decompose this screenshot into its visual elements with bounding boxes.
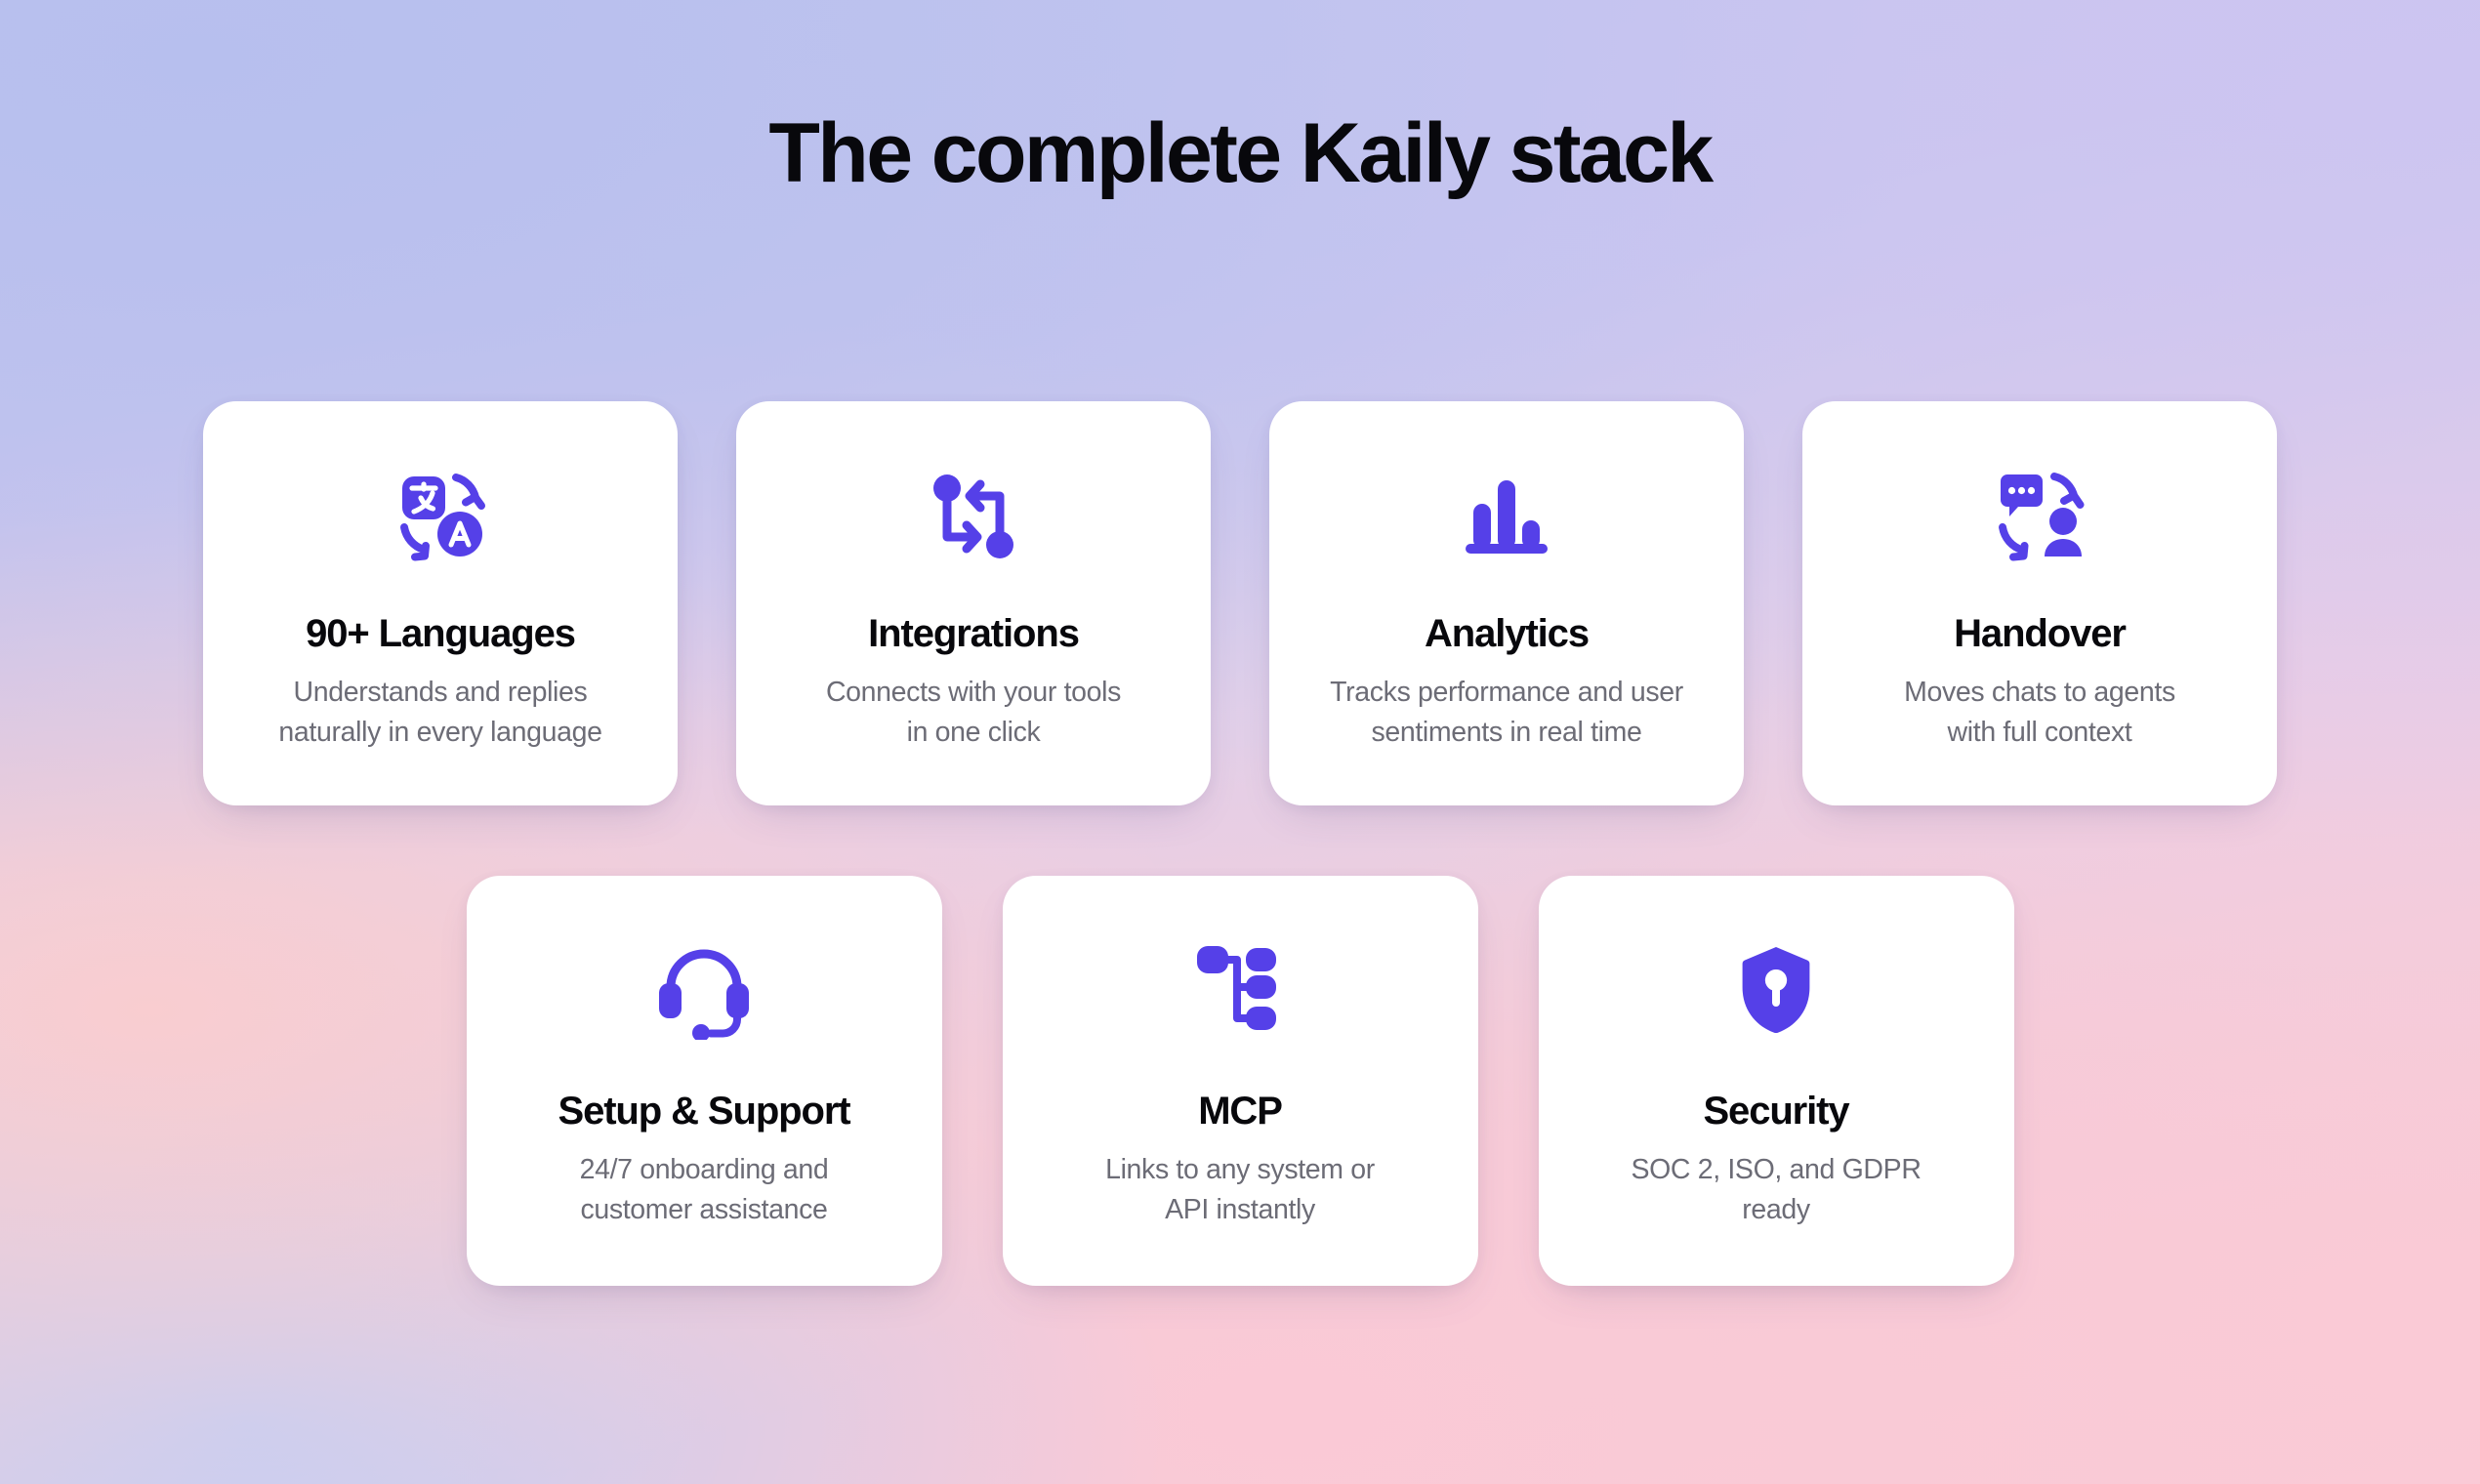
- card-description-line-1: 24/7 onboarding and: [580, 1154, 829, 1185]
- integrations-sync-arrows-icon: [921, 464, 1026, 569]
- feature-card-languages[interactable]: 90+ Languages Understands and replies na…: [203, 401, 678, 805]
- card-title: Integrations: [868, 612, 1079, 655]
- feature-card-integrations[interactable]: Integrations Connects with your tools in…: [736, 401, 1211, 805]
- card-description: Links to any system or API instantly: [1105, 1150, 1375, 1231]
- card-description-line-2: API instantly: [1165, 1194, 1315, 1225]
- feature-card-analytics[interactable]: Analytics Tracks performance and user se…: [1269, 401, 1744, 805]
- card-description-line-2: ready: [1742, 1194, 1810, 1225]
- feature-stack-page: The complete Kaily stack 90+ Languages U…: [0, 0, 2480, 1484]
- feature-card-row-1: 90+ Languages Understands and replies na…: [0, 401, 2480, 805]
- handover-chat-agent-icon: [1987, 464, 2092, 569]
- card-description-line-2: naturally in every language: [278, 717, 601, 748]
- feature-card-handover[interactable]: Handover Moves chats to agents with full…: [1802, 401, 2277, 805]
- card-description: Tracks performance and user sentiments i…: [1330, 673, 1683, 754]
- shield-keyhole-security-icon: [1723, 937, 1829, 1043]
- feature-card-security[interactable]: Security SOC 2, ISO, and GDPR ready: [1539, 876, 2014, 1286]
- card-description-line-1: Connects with your tools: [826, 677, 1121, 708]
- feature-card-row-2: Setup & Support 24/7 onboarding and cust…: [0, 876, 2480, 1286]
- card-description: SOC 2, ISO, and GDPR ready: [1631, 1150, 1921, 1231]
- mcp-node-tree-icon: [1187, 937, 1293, 1043]
- card-description: 24/7 onboarding and customer assistance: [580, 1150, 829, 1231]
- card-description: Connects with your tools in one click: [826, 673, 1121, 754]
- card-title: Setup & Support: [558, 1090, 849, 1133]
- card-title: MCP: [1198, 1090, 1282, 1133]
- card-description-line-2: customer assistance: [580, 1194, 827, 1225]
- card-description-line-1: Moves chats to agents: [1904, 677, 2175, 708]
- card-title: Handover: [1954, 612, 2126, 655]
- page-title: The complete Kaily stack: [0, 109, 2480, 197]
- card-description-line-1: Tracks performance and user: [1330, 677, 1683, 708]
- card-description-line-1: Understands and replies: [294, 677, 588, 708]
- card-description-line-2: sentiments in real time: [1371, 717, 1641, 748]
- card-description-line-2: with full context: [1948, 717, 2132, 748]
- feature-card-setup-support[interactable]: Setup & Support 24/7 onboarding and cust…: [467, 876, 942, 1286]
- card-description-line-1: Links to any system or: [1105, 1154, 1375, 1185]
- translate-languages-icon: [388, 464, 493, 569]
- feature-card-mcp[interactable]: MCP Links to any system or API instantly: [1003, 876, 1478, 1286]
- headset-support-icon: [651, 937, 757, 1043]
- card-title: Security: [1703, 1090, 1848, 1133]
- card-title: 90+ Languages: [306, 612, 575, 655]
- card-description: Understands and replies naturally in eve…: [278, 673, 601, 754]
- card-description-line-2: in one click: [907, 717, 1041, 748]
- card-title: Analytics: [1425, 612, 1589, 655]
- card-description-line-1: SOC 2, ISO, and GDPR: [1631, 1154, 1921, 1185]
- card-description: Moves chats to agents with full context: [1904, 673, 2175, 754]
- analytics-bar-chart-icon: [1454, 464, 1559, 569]
